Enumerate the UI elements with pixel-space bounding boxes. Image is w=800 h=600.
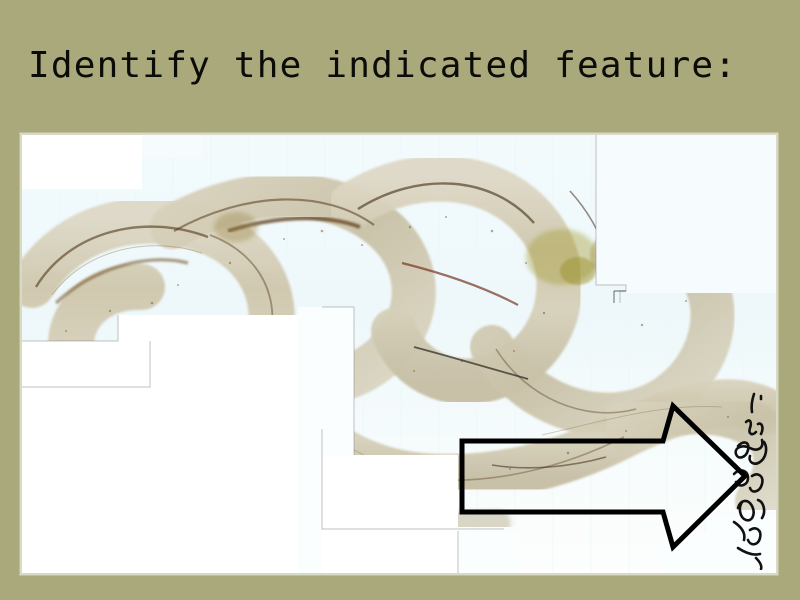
- slide: Identify the indicated feature:: [0, 0, 800, 600]
- handwritten-note: [728, 390, 774, 570]
- figure-frame: [20, 133, 778, 575]
- histology-micrograph: [22, 135, 776, 573]
- mosaic-seam-lines: [22, 135, 776, 573]
- page-title: Identify the indicated feature:: [28, 44, 788, 88]
